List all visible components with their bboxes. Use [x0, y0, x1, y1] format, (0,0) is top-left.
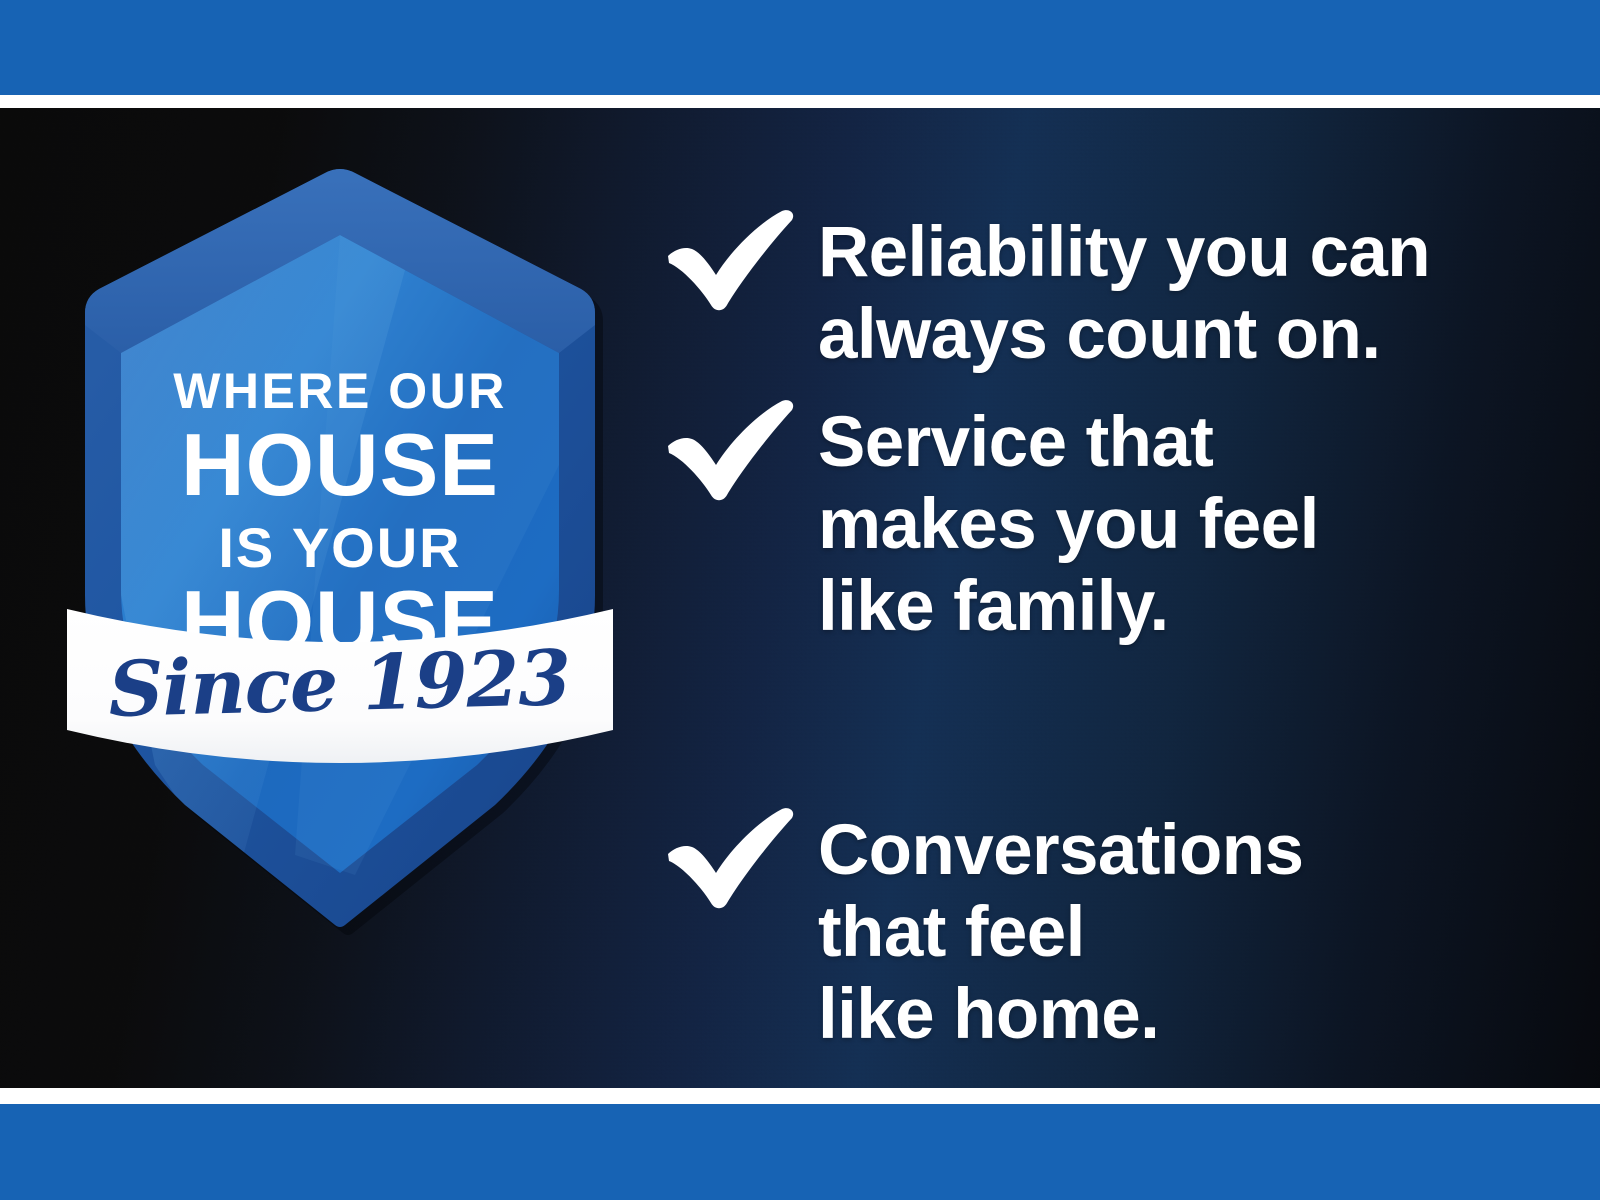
- bottom-brand-bar: [0, 1104, 1600, 1200]
- benefits-checklist: Reliability you can always count on. Ser…: [660, 108, 1560, 1088]
- ribbon-label: Since 1923: [107, 633, 571, 734]
- shield-line-3: IS YOUR: [218, 516, 461, 579]
- shield-text-block: WHERE OUR HOUSE IS YOUR HOUSE: [173, 363, 507, 671]
- bottom-white-divider: [0, 1088, 1600, 1104]
- check-icon: [660, 802, 800, 914]
- check-icon: [660, 204, 800, 316]
- promo-graphic: WHERE OUR HOUSE IS YOUR HOUSE Since 1923…: [0, 0, 1600, 1200]
- shield-line-2: HOUSE: [181, 415, 499, 514]
- shield-line-1: WHERE OUR: [173, 363, 507, 419]
- brand-shield-badge: WHERE OUR HOUSE IS YOUR HOUSE Since 1923…: [55, 165, 625, 955]
- check-icon: [660, 394, 800, 506]
- checklist-item-3: Conversations that feel like home.: [660, 802, 1560, 1056]
- checklist-item-3-text: Conversations that feel like home.: [818, 802, 1560, 1056]
- top-white-divider: [0, 95, 1600, 108]
- checklist-item-2: Service that makes you feel like family.: [660, 394, 1560, 648]
- top-brand-bar: [0, 0, 1600, 95]
- checklist-item-1: Reliability you can always count on.: [660, 204, 1560, 376]
- checklist-item-1-text: Reliability you can always count on.: [818, 204, 1560, 376]
- checklist-item-2-text: Service that makes you feel like family.: [818, 394, 1560, 648]
